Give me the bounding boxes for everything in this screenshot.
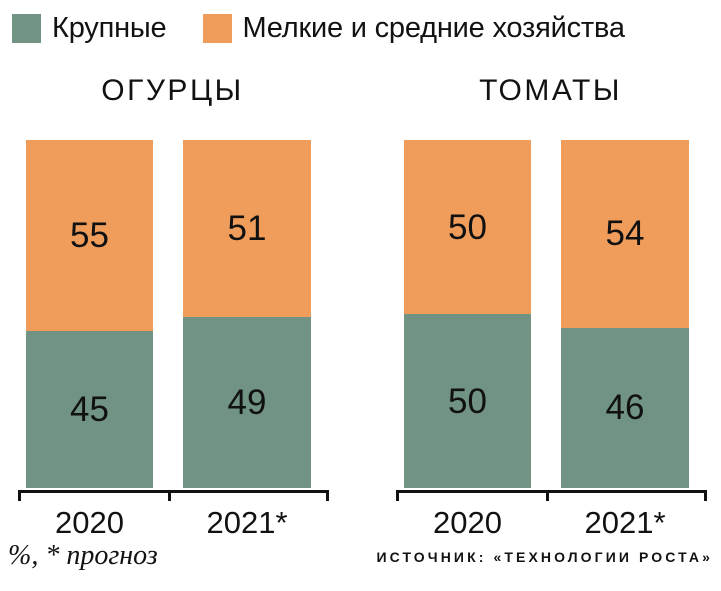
footnote: %, * прогноз [8, 540, 158, 572]
bar-segment-small-medium: 54 [561, 140, 689, 328]
x-axis-tick-end [326, 490, 329, 501]
plot-area-cucumbers: 55 45 51 49 [0, 140, 345, 488]
x-axis-label-2020: 2020 [26, 506, 153, 540]
legend-swatch-small-medium-icon [203, 14, 232, 43]
source-note: ИСТОЧНИК: «ТЕХНОЛОГИИ РОСТА» [376, 548, 713, 566]
bar-segment-small-medium: 51 [183, 140, 311, 317]
x-axis-tick-start [18, 490, 21, 501]
x-axis-line [396, 490, 706, 493]
stacked-bar-tomatoes-2021[interactable]: 54 46 [561, 140, 689, 488]
x-axis-tomatoes [378, 490, 721, 502]
chart-title-tomatoes: ТОМАТЫ [378, 74, 721, 108]
bar-segment-small-medium: 50 [404, 140, 531, 314]
x-axis-tick-middle [168, 490, 171, 501]
x-axis-tick-middle [546, 490, 549, 501]
chart-legend: Крупные Мелкие и средние хозяйства [12, 8, 712, 48]
plot-area-tomatoes: 50 50 54 46 [378, 140, 721, 488]
x-axis-labels-tomatoes: 2020 2021* [378, 506, 721, 546]
x-axis-tick-end [704, 490, 707, 501]
bar-segment-small-medium: 55 [26, 140, 153, 331]
x-axis-label-2021: 2021* [561, 506, 689, 540]
x-axis-cucumbers [0, 490, 345, 502]
bar-segment-large: 50 [404, 314, 531, 488]
bar-segment-large: 45 [26, 331, 153, 488]
stacked-bar-cucumbers-2021[interactable]: 51 49 [183, 140, 311, 488]
bar-segment-large: 46 [561, 328, 689, 488]
chart-panel-tomatoes: ТОМАТЫ 50 50 54 46 2020 2021* [378, 66, 721, 536]
x-axis-tick-start [396, 490, 399, 501]
bar-segment-large: 49 [183, 317, 311, 488]
x-axis-line [18, 490, 328, 493]
legend-item-small-medium: Мелкие и средние хозяйства [203, 13, 625, 43]
x-axis-label-2021: 2021* [183, 506, 311, 540]
legend-item-large: Крупные [12, 13, 167, 43]
x-axis-label-2020: 2020 [404, 506, 531, 540]
stacked-bar-cucumbers-2020[interactable]: 55 45 [26, 140, 153, 488]
chart-title-cucumbers: ОГУРЦЫ [0, 74, 345, 108]
legend-label-small-medium: Мелкие и средние хозяйства [243, 13, 625, 43]
chart-panel-cucumbers: ОГУРЦЫ 55 45 51 49 2020 2021* [0, 66, 345, 536]
stacked-bar-tomatoes-2020[interactable]: 50 50 [404, 140, 531, 488]
legend-label-large: Крупные [52, 13, 167, 43]
legend-swatch-large-icon [12, 14, 41, 43]
